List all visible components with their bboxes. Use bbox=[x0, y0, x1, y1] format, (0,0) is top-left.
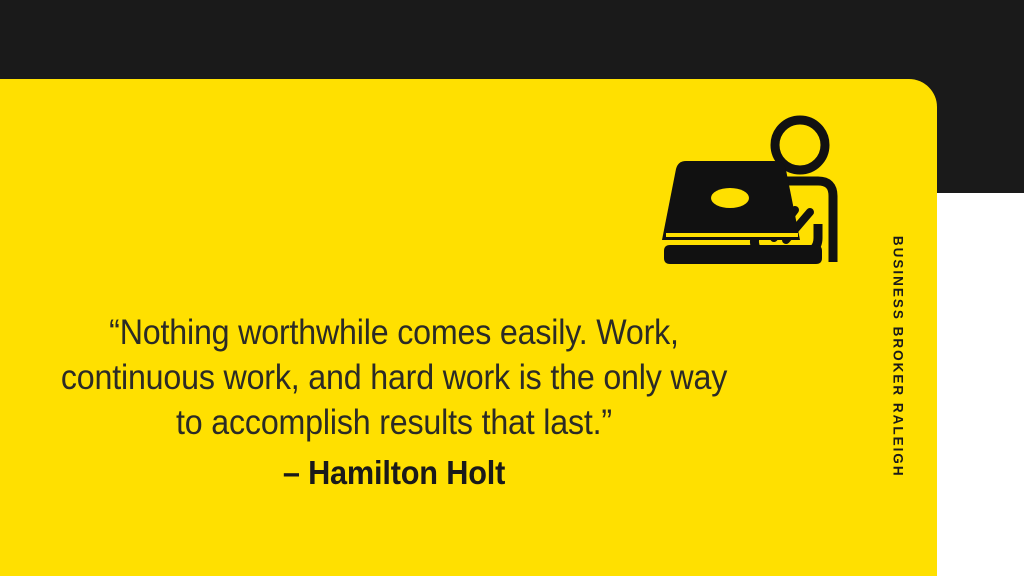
quote-attribution: – Hamilton Holt bbox=[41, 453, 748, 493]
brand-vertical-text: BUSINESS BROKER RALEIGH bbox=[891, 236, 905, 478]
quote-block: “Nothing worthwhile comes easily. Work, … bbox=[14, 310, 774, 493]
quote-slide: BUSINESS BROKER RALEIGH “Nothing worthwh… bbox=[0, 0, 1024, 576]
quote-line-3: to accomplish results that last.” bbox=[44, 400, 743, 445]
brand-vertical-label: BUSINESS BROKER RALEIGH bbox=[878, 228, 918, 486]
quote-line-2: continuous work, and hard work is the on… bbox=[44, 355, 743, 400]
person-working-on-laptop-icon bbox=[650, 112, 850, 272]
quote-line-1: “Nothing worthwhile comes easily. Work, bbox=[44, 310, 743, 355]
